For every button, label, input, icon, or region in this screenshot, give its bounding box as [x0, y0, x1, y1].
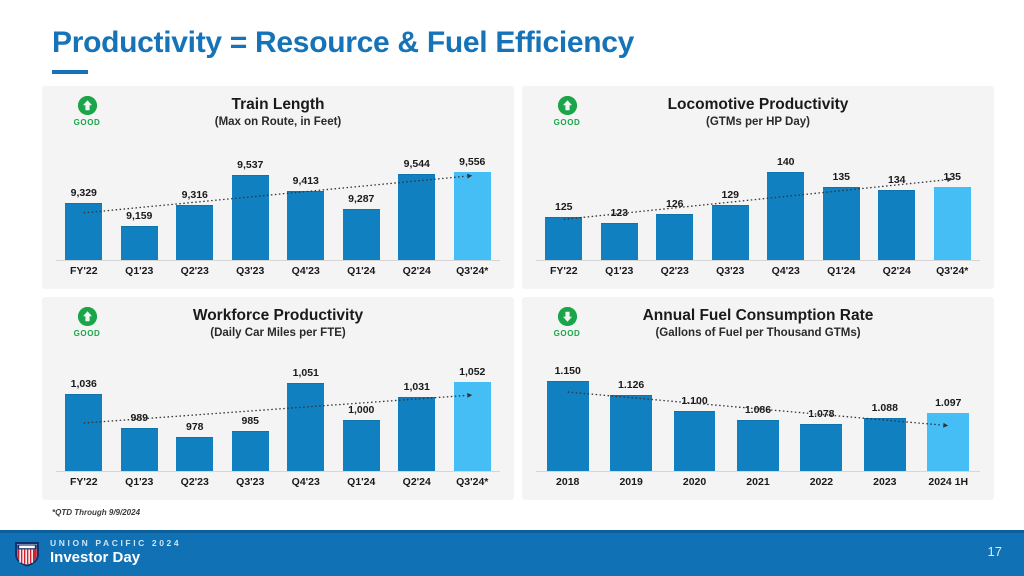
bar-slot: 9,556	[445, 142, 501, 261]
bar-slot: 1,000	[334, 353, 390, 472]
x-axis-tick-label: Q4'23	[758, 265, 814, 277]
panel-title: Locomotive Productivity	[534, 96, 982, 114]
x-axis-tick-label: Q3'24*	[445, 476, 501, 488]
x-axis-tick-label: Q4'23	[278, 476, 334, 488]
title-block: Productivity = Resource & Fuel Efficienc…	[52, 26, 634, 74]
bar-value-label: 1,052	[459, 366, 485, 378]
chart-locomotive-productivity: 125123126129140135134135 FY'22Q1'23Q2'23…	[536, 142, 980, 281]
bar-highlighted	[927, 413, 969, 472]
bar	[712, 205, 749, 261]
bar-slot: 1.126	[599, 353, 662, 472]
bar-value-label: 978	[186, 421, 204, 433]
bar-slot: 1.078	[790, 353, 853, 472]
union-pacific-shield-icon	[12, 540, 42, 568]
page-title: Productivity = Resource & Fuel Efficienc…	[52, 26, 634, 60]
footer-top-rule	[0, 530, 1024, 533]
bar	[545, 217, 582, 261]
bar-value-label: 1.097	[935, 397, 961, 409]
bar-value-label: 1,000	[348, 404, 374, 416]
bar-slot: 9,413	[278, 142, 334, 261]
panel-train-length: GOOD Train Length (Max on Route, in Feet…	[42, 86, 514, 289]
panel-locomotive-productivity: GOOD Locomotive Productivity (GTMs per H…	[522, 86, 994, 289]
bar	[823, 187, 860, 261]
x-axis-ticks: FY'22Q1'23Q2'23Q3'23Q4'23Q1'24Q2'24Q3'24…	[56, 472, 500, 492]
bar-slot: 1,036	[56, 353, 112, 472]
x-axis-tick-label: Q2'23	[167, 476, 223, 488]
bar-slot: 9,537	[223, 142, 279, 261]
bar-slot: 985	[223, 353, 279, 472]
good-badge-label: GOOD	[64, 118, 110, 127]
bar	[343, 420, 380, 472]
bar-value-label: 134	[888, 174, 906, 186]
good-badge-label: GOOD	[64, 329, 110, 338]
bars-container: 125123126129140135134135	[536, 142, 980, 261]
bar-slot: 9,329	[56, 142, 112, 261]
bar	[232, 175, 269, 261]
good-badge-label: GOOD	[544, 329, 590, 338]
good-badge-workforce-productivity: GOOD	[64, 307, 110, 338]
chart-workforce-productivity: 1,0369899789851,0511,0001,0311,052 FY'22…	[56, 353, 500, 492]
x-axis-tick-label: 2018	[536, 476, 599, 488]
bar	[287, 383, 324, 472]
x-axis-tick-label: Q2'24	[389, 476, 445, 488]
bar	[65, 203, 102, 261]
bar-slot: 1.150	[536, 353, 599, 472]
panel-subtitle: (Max on Route, in Feet)	[54, 116, 502, 128]
bar-value-label: 1.126	[618, 379, 644, 391]
bar-value-label: 1.150	[555, 365, 581, 377]
bar-slot: 126	[647, 142, 703, 261]
x-axis-tick-label: Q1'24	[334, 265, 390, 277]
bar-slot: 1.086	[726, 353, 789, 472]
x-axis-tick-label: Q4'23	[278, 265, 334, 277]
bar-slot: 134	[869, 142, 925, 261]
bar-value-label: 123	[610, 207, 628, 219]
x-axis-tick-label: Q1'24	[814, 265, 870, 277]
bar-slot: 978	[167, 353, 223, 472]
bar	[656, 214, 693, 261]
good-badge-annual-fuel-consumption-rate: GOOD	[544, 307, 590, 338]
x-axis-tick-label: Q3'23	[223, 265, 279, 277]
bar-slot: 9,544	[389, 142, 445, 261]
bar-highlighted	[934, 187, 971, 261]
bar-value-label: 9,537	[237, 159, 263, 171]
x-axis-tick-label: Q3'23	[703, 265, 759, 277]
x-axis-tick-label: Q2'24	[389, 265, 445, 277]
panel-subtitle: (Gallons of Fuel per Thousand GTMs)	[534, 327, 982, 339]
panel-subtitle: (Daily Car Miles per FTE)	[54, 327, 502, 339]
bar-value-label: 126	[666, 198, 684, 210]
arrow-down-circle-icon	[558, 307, 577, 326]
slide-footer: UNION PACIFIC 2024 Investor Day 17	[0, 530, 1024, 576]
bar-slot: 989	[112, 353, 168, 472]
bar	[601, 223, 638, 261]
footer-eyebrow: UNION PACIFIC 2024	[50, 538, 181, 548]
bar	[176, 205, 213, 261]
panel-workforce-productivity: GOOD Workforce Productivity (Daily Car M…	[42, 297, 514, 500]
x-axis-tick-label: Q2'23	[647, 265, 703, 277]
chart-train-length: 9,3299,1599,3169,5379,4139,2879,5449,556…	[56, 142, 500, 281]
footer-title: Investor Day	[50, 549, 181, 566]
bar-slot: 135	[814, 142, 870, 261]
panel-title: Train Length	[54, 96, 502, 114]
bar-value-label: 9,329	[71, 187, 97, 199]
bar	[121, 226, 158, 261]
bar	[674, 411, 716, 472]
x-axis-tick-label: Q3'24*	[445, 265, 501, 277]
good-badge-label: GOOD	[544, 118, 590, 127]
bar	[121, 428, 158, 472]
bar-slot: 123	[592, 142, 648, 261]
footnote: *QTD Through 9/9/2024	[52, 508, 140, 517]
bar	[176, 437, 213, 472]
x-axis-ticks: FY'22Q1'23Q2'23Q3'23Q4'23Q1'24Q2'24Q3'24…	[536, 261, 980, 281]
bars-container: 9,3299,1599,3169,5379,4139,2879,5449,556	[56, 142, 500, 261]
charts-grid: GOOD Train Length (Max on Route, in Feet…	[42, 86, 982, 500]
footer-text-block: UNION PACIFIC 2024 Investor Day	[50, 538, 181, 566]
bar-value-label: 985	[241, 415, 259, 427]
arrow-up-circle-icon	[78, 96, 97, 115]
x-axis-tick-label: Q1'24	[334, 476, 390, 488]
bar-value-label: 9,556	[459, 156, 485, 168]
bar-slot: 9,316	[167, 142, 223, 261]
bar-slot: 129	[703, 142, 759, 261]
bar	[737, 420, 779, 472]
bar-value-label: 1,031	[404, 381, 430, 393]
bar-slot: 1,052	[445, 353, 501, 472]
x-axis-tick-label: 2022	[790, 476, 853, 488]
bar-value-label: 1,036	[71, 378, 97, 390]
bar	[65, 394, 102, 472]
bar-value-label: 9,544	[404, 158, 430, 170]
bar-slot: 1.088	[853, 353, 916, 472]
x-axis-tick-label: Q1'23	[112, 476, 168, 488]
bar-slot: 140	[758, 142, 814, 261]
plot-area: 9,3299,1599,3169,5379,4139,2879,5449,556	[56, 142, 500, 261]
bar-value-label: 1.100	[681, 395, 707, 407]
bar-slot: 9,159	[112, 142, 168, 261]
bar	[864, 418, 906, 472]
x-axis-tick-label: Q1'23	[592, 265, 648, 277]
plot-area: 1,0369899789851,0511,0001,0311,052	[56, 353, 500, 472]
bar-value-label: 135	[832, 171, 850, 183]
bar-highlighted	[454, 382, 491, 472]
good-badge-train-length: GOOD	[64, 96, 110, 127]
x-axis-tick-label: 2023	[853, 476, 916, 488]
bar-slot: 1,031	[389, 353, 445, 472]
bar	[800, 424, 842, 472]
panel-annual-fuel-consumption-rate: GOOD Annual Fuel Consumption Rate (Gallo…	[522, 297, 994, 500]
arrow-up-circle-icon	[558, 96, 577, 115]
x-axis-ticks: 2018201920202021202220232024 1H	[536, 472, 980, 492]
x-axis-tick-label: 2024 1H	[917, 476, 980, 488]
bar-value-label: 125	[555, 201, 573, 213]
x-axis-ticks: FY'22Q1'23Q2'23Q3'23Q4'23Q1'24Q2'24Q3'24…	[56, 261, 500, 281]
x-axis-tick-label: Q3'23	[223, 476, 279, 488]
bar-slot: 1.097	[917, 353, 980, 472]
bars-container: 1,0369899789851,0511,0001,0311,052	[56, 353, 500, 472]
chart-annual-fuel-consumption-rate: 1.1501.1261.1001.0861.0781.0881.097 2018…	[536, 353, 980, 492]
bar	[610, 395, 652, 472]
bar-value-label: 140	[777, 156, 795, 168]
bar-value-label: 9,316	[182, 189, 208, 201]
bar-slot: 9,287	[334, 142, 390, 261]
x-axis-tick-label: Q1'23	[112, 265, 168, 277]
x-axis-tick-label: 2020	[663, 476, 726, 488]
bar	[547, 381, 589, 472]
bar-value-label: 135	[943, 171, 961, 183]
panel-header: Locomotive Productivity (GTMs per HP Day…	[534, 94, 982, 128]
x-axis-tick-label: 2019	[599, 476, 662, 488]
panel-header: Annual Fuel Consumption Rate (Gallons of…	[534, 305, 982, 339]
bar	[232, 431, 269, 472]
plot-area: 125123126129140135134135	[536, 142, 980, 261]
bar	[398, 397, 435, 472]
x-axis-tick-label: Q3'24*	[925, 265, 981, 277]
good-badge-locomotive-productivity: GOOD	[544, 96, 590, 127]
bar-value-label: 1.086	[745, 404, 771, 416]
panel-header: Workforce Productivity (Daily Car Miles …	[54, 305, 502, 339]
x-axis-tick-label: FY'22	[56, 265, 112, 277]
bar-slot: 1,051	[278, 353, 334, 472]
bar	[343, 209, 380, 261]
bar-slot: 135	[925, 142, 981, 261]
bar	[287, 191, 324, 261]
bar-slot: 1.100	[663, 353, 726, 472]
arrow-up-circle-icon	[78, 307, 97, 326]
bar	[878, 190, 915, 261]
bar-value-label: 9,413	[293, 175, 319, 187]
bar-value-label: 989	[130, 412, 148, 424]
plot-area: 1.1501.1261.1001.0861.0781.0881.097	[536, 353, 980, 472]
bar-value-label: 129	[721, 189, 739, 201]
x-axis-tick-label: 2021	[726, 476, 789, 488]
x-axis-tick-label: Q2'24	[869, 265, 925, 277]
bar	[398, 174, 435, 261]
panel-title: Annual Fuel Consumption Rate	[534, 307, 982, 325]
title-underline	[52, 70, 88, 74]
bars-container: 1.1501.1261.1001.0861.0781.0881.097	[536, 353, 980, 472]
bar-value-label: 1.078	[808, 408, 834, 420]
bar-highlighted	[454, 172, 491, 261]
bar-slot: 125	[536, 142, 592, 261]
x-axis-tick-label: FY'22	[536, 265, 592, 277]
bar-value-label: 9,287	[348, 193, 374, 205]
panel-title: Workforce Productivity	[54, 307, 502, 325]
panel-subtitle: (GTMs per HP Day)	[534, 116, 982, 128]
bar-value-label: 9,159	[126, 210, 152, 222]
bar-value-label: 1.088	[872, 402, 898, 414]
panel-header: Train Length (Max on Route, in Feet)	[54, 94, 502, 128]
bar-value-label: 1,051	[293, 367, 319, 379]
bar	[767, 172, 804, 261]
page-number: 17	[988, 544, 1002, 559]
x-axis-tick-label: FY'22	[56, 476, 112, 488]
x-axis-tick-label: Q2'23	[167, 265, 223, 277]
slide-root: Productivity = Resource & Fuel Efficienc…	[0, 0, 1024, 576]
